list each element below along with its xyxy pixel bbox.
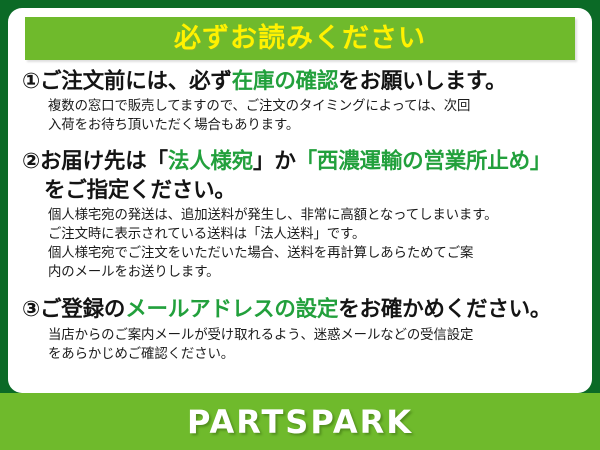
notice-item-2-emphasis-2: 「西濃運輸の営業所止め」 bbox=[296, 149, 552, 174]
notice-item-2-heading-part-3: 」か bbox=[253, 149, 296, 174]
notice-item-2-emphasis-1: 法人様宛 bbox=[168, 149, 253, 174]
notice-item-1-heading-part-1: ①ご注文前には、必ず bbox=[22, 69, 232, 94]
notice-item-3-heading: ③ご登録のメールアドレスの設定をお確かめください。 bbox=[22, 296, 580, 324]
notice-item-1-description: 複数の窓口で販売してますので、ご注文のタイミングによっては、次回 入荷をお待ち頂… bbox=[22, 97, 580, 135]
notice-item-1-heading-part-3: をお願いします。 bbox=[338, 69, 506, 94]
notice-item-3-heading-part-1: ③ご登録の bbox=[22, 297, 125, 322]
notice-item-2-description: 個人様宅宛の発送は、追加送料が発生し、非常に高額となってしまいます。 ご注文時に… bbox=[22, 206, 580, 282]
notice-item-1-emphasis: 在庫の確認 bbox=[232, 69, 339, 94]
notice-item-2: ②お届け先は「法人様宛」か「西濃運輸の営業所止め」 をご指定ください。 個人様宅… bbox=[22, 148, 580, 282]
notice-panel: 必ずお読みください ①ご注文前には、必ず在庫の確認をお願いします。 複数の窓口で… bbox=[8, 8, 592, 393]
partspark-logo: PARTSPARK bbox=[187, 403, 413, 441]
notice-item-2-heading-line-2: をご指定ください。 bbox=[22, 177, 580, 205]
notice-item-1: ①ご注文前には、必ず在庫の確認をお願いします。 複数の窓口で販売してますので、ご… bbox=[22, 68, 580, 135]
notice-body: ①ご注文前には、必ず在庫の確認をお願いします。 複数の窓口で販売してますので、ご… bbox=[8, 66, 592, 366]
notice-item-3-description: 当店からのご案内メールが受け取れるよう、迷惑メールなどの受信設定 をあらかじめご… bbox=[22, 326, 580, 364]
notice-item-3-emphasis: メールアドレスの設定 bbox=[125, 297, 338, 322]
footer-band: PARTSPARK bbox=[0, 393, 600, 450]
notice-item-2-heading: ②お届け先は「法人様宛」か「西濃運輸の営業所止め」 をご指定ください。 bbox=[22, 148, 580, 205]
notice-header-band: 必ずお読みください bbox=[25, 17, 575, 60]
notice-item-2-heading-part-1: ②お届け先は「 bbox=[22, 149, 168, 174]
notice-item-3-heading-part-3: をお確かめください。 bbox=[338, 297, 551, 322]
notice-item-3: ③ご登録のメールアドレスの設定をお確かめください。 当店からのご案内メールが受け… bbox=[22, 296, 580, 363]
page-title: 必ずお読みください bbox=[174, 25, 426, 52]
notice-banner: 必ずお読みください ①ご注文前には、必ず在庫の確認をお願いします。 複数の窓口で… bbox=[0, 0, 600, 450]
notice-item-1-heading: ①ご注文前には、必ず在庫の確認をお願いします。 bbox=[22, 68, 580, 96]
